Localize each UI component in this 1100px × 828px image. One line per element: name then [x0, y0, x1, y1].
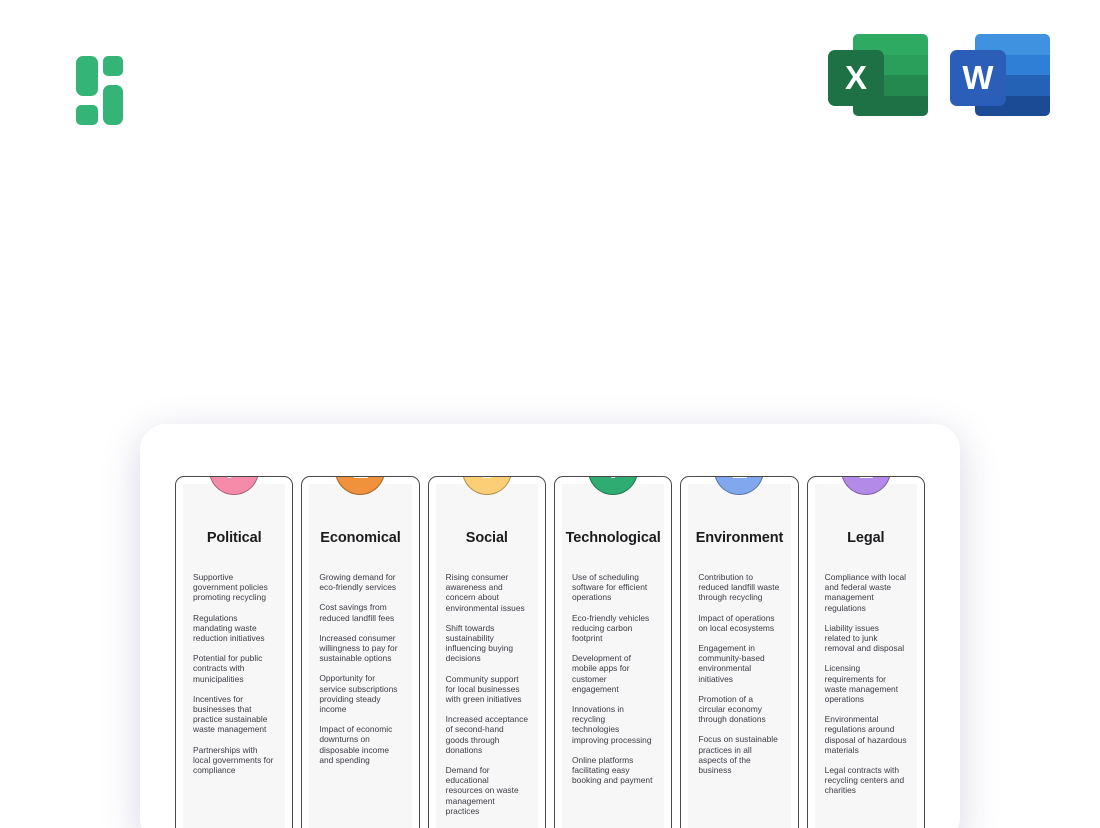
column-title: Technological: [562, 530, 664, 546]
title-line-1: BALNAK LOGISTICS GROUP: [0, 222, 1100, 286]
list-item: Impact of operations on local ecosystems: [698, 613, 780, 633]
pestel-column-social[interactable]: SocialRising consumer awareness and conc…: [428, 476, 546, 828]
list-item: Growing demand for eco-friendly services: [319, 572, 401, 592]
column-title: Legal: [815, 530, 917, 546]
title-line-2: PESTEL Analysis: [0, 286, 1100, 350]
list-item: Environmental regulations around disposa…: [825, 714, 907, 755]
pestel-column-economical[interactable]: EconomicalGrowing demand for eco-friendl…: [301, 476, 419, 828]
pestel-column-technological[interactable]: TechnologicalUse of scheduling software …: [554, 476, 672, 828]
list-item: Rising consumer awareness and concern ab…: [446, 572, 528, 613]
column-title: Political: [183, 530, 285, 546]
column-body: LegalCompliance with local and federal w…: [815, 484, 917, 828]
word-icon-letter-tile: W: [950, 50, 1006, 106]
list-item: Online platforms facilitating easy booki…: [572, 755, 654, 786]
column-item-list: Rising consumer awareness and concern ab…: [436, 572, 538, 816]
list-item: Increased consumer willingness to pay fo…: [319, 633, 401, 664]
column-body: PoliticalSupportive government policies …: [183, 484, 285, 828]
list-item: Partnerships with local governments for …: [193, 745, 275, 776]
pestel-column-environment[interactable]: EnvironmentContribution to reduced landf…: [680, 476, 798, 828]
list-item: Licensing requirements for waste managem…: [825, 663, 907, 704]
list-item: Cost savings from reduced landfill fees: [319, 602, 401, 622]
page-title: BALNAK LOGISTICS GROUP PESTEL Analysis: [0, 222, 1100, 350]
list-item: Eco-friendly vehicles reducing carbon fo…: [572, 613, 654, 644]
list-item: Use of scheduling software for efficient…: [572, 572, 654, 603]
list-item: Increased acceptance of second-hand good…: [446, 714, 528, 755]
column-item-list: Contribution to reduced landfill waste t…: [688, 572, 790, 775]
grid-squares-icon: [76, 56, 123, 103]
column-body: TechnologicalUse of scheduling software …: [562, 484, 664, 828]
list-item: Development of mobile apps for customer …: [572, 653, 654, 694]
list-item: Compliance with local and federal waste …: [825, 572, 907, 613]
list-item: Shift towards sustainability influencing…: [446, 623, 528, 664]
list-item: Potential for public contracts with muni…: [193, 653, 275, 684]
list-item: Liability issues related to junk removal…: [825, 623, 907, 654]
list-item: Legal contracts with recycling centers a…: [825, 765, 907, 796]
slide-canvas: XW BALNAK LOGISTICS GROUP PESTEL Analysi…: [0, 0, 1100, 828]
list-item: Innovations in recycling technologies im…: [572, 704, 654, 745]
list-item: Regulations mandating waste reduction in…: [193, 613, 275, 644]
column-item-list: Growing demand for eco-friendly services…: [309, 572, 411, 765]
column-item-list: Supportive government policies promoting…: [183, 572, 285, 775]
list-item: Contribution to reduced landfill waste t…: [698, 572, 780, 603]
list-item: Engagement in community-based environmen…: [698, 643, 780, 684]
column-title: Economical: [309, 530, 411, 546]
column-title: Environment: [688, 530, 790, 546]
list-item: Demand for educational resources on wast…: [446, 765, 528, 816]
excel-icon-letter-tile: X: [828, 50, 884, 106]
pestel-column-legal[interactable]: LegalCompliance with local and federal w…: [807, 476, 925, 828]
column-body: SocialRising consumer awareness and conc…: [436, 484, 538, 828]
column-item-list: Use of scheduling software for efficient…: [562, 572, 664, 785]
excel-icon[interactable]: X: [828, 30, 928, 120]
column-title: Social: [436, 530, 538, 546]
column-body: EconomicalGrowing demand for eco-friendl…: [309, 484, 411, 828]
list-item: Community support for local businesses w…: [446, 674, 528, 705]
word-icon[interactable]: W: [950, 30, 1050, 120]
office-icons: XW: [828, 30, 1050, 120]
column-body: EnvironmentContribution to reduced landf…: [688, 484, 790, 828]
list-item: Supportive government policies promoting…: [193, 572, 275, 603]
list-item: Opportunity for service subscriptions pr…: [319, 673, 401, 714]
pestel-columns: PoliticalSupportive government policies …: [175, 476, 925, 828]
list-item: Focus on sustainable practices in all as…: [698, 734, 780, 775]
list-item: Promotion of a circular economy through …: [698, 694, 780, 725]
list-item: Incentives for businesses that practice …: [193, 694, 275, 735]
app-logo: [52, 32, 146, 126]
list-item: Impact of economic downturns on disposab…: [319, 724, 401, 765]
pestel-column-political[interactable]: PoliticalSupportive government policies …: [175, 476, 293, 828]
column-item-list: Compliance with local and federal waste …: [815, 572, 917, 796]
pestel-panel: PoliticalSupportive government policies …: [140, 424, 960, 828]
